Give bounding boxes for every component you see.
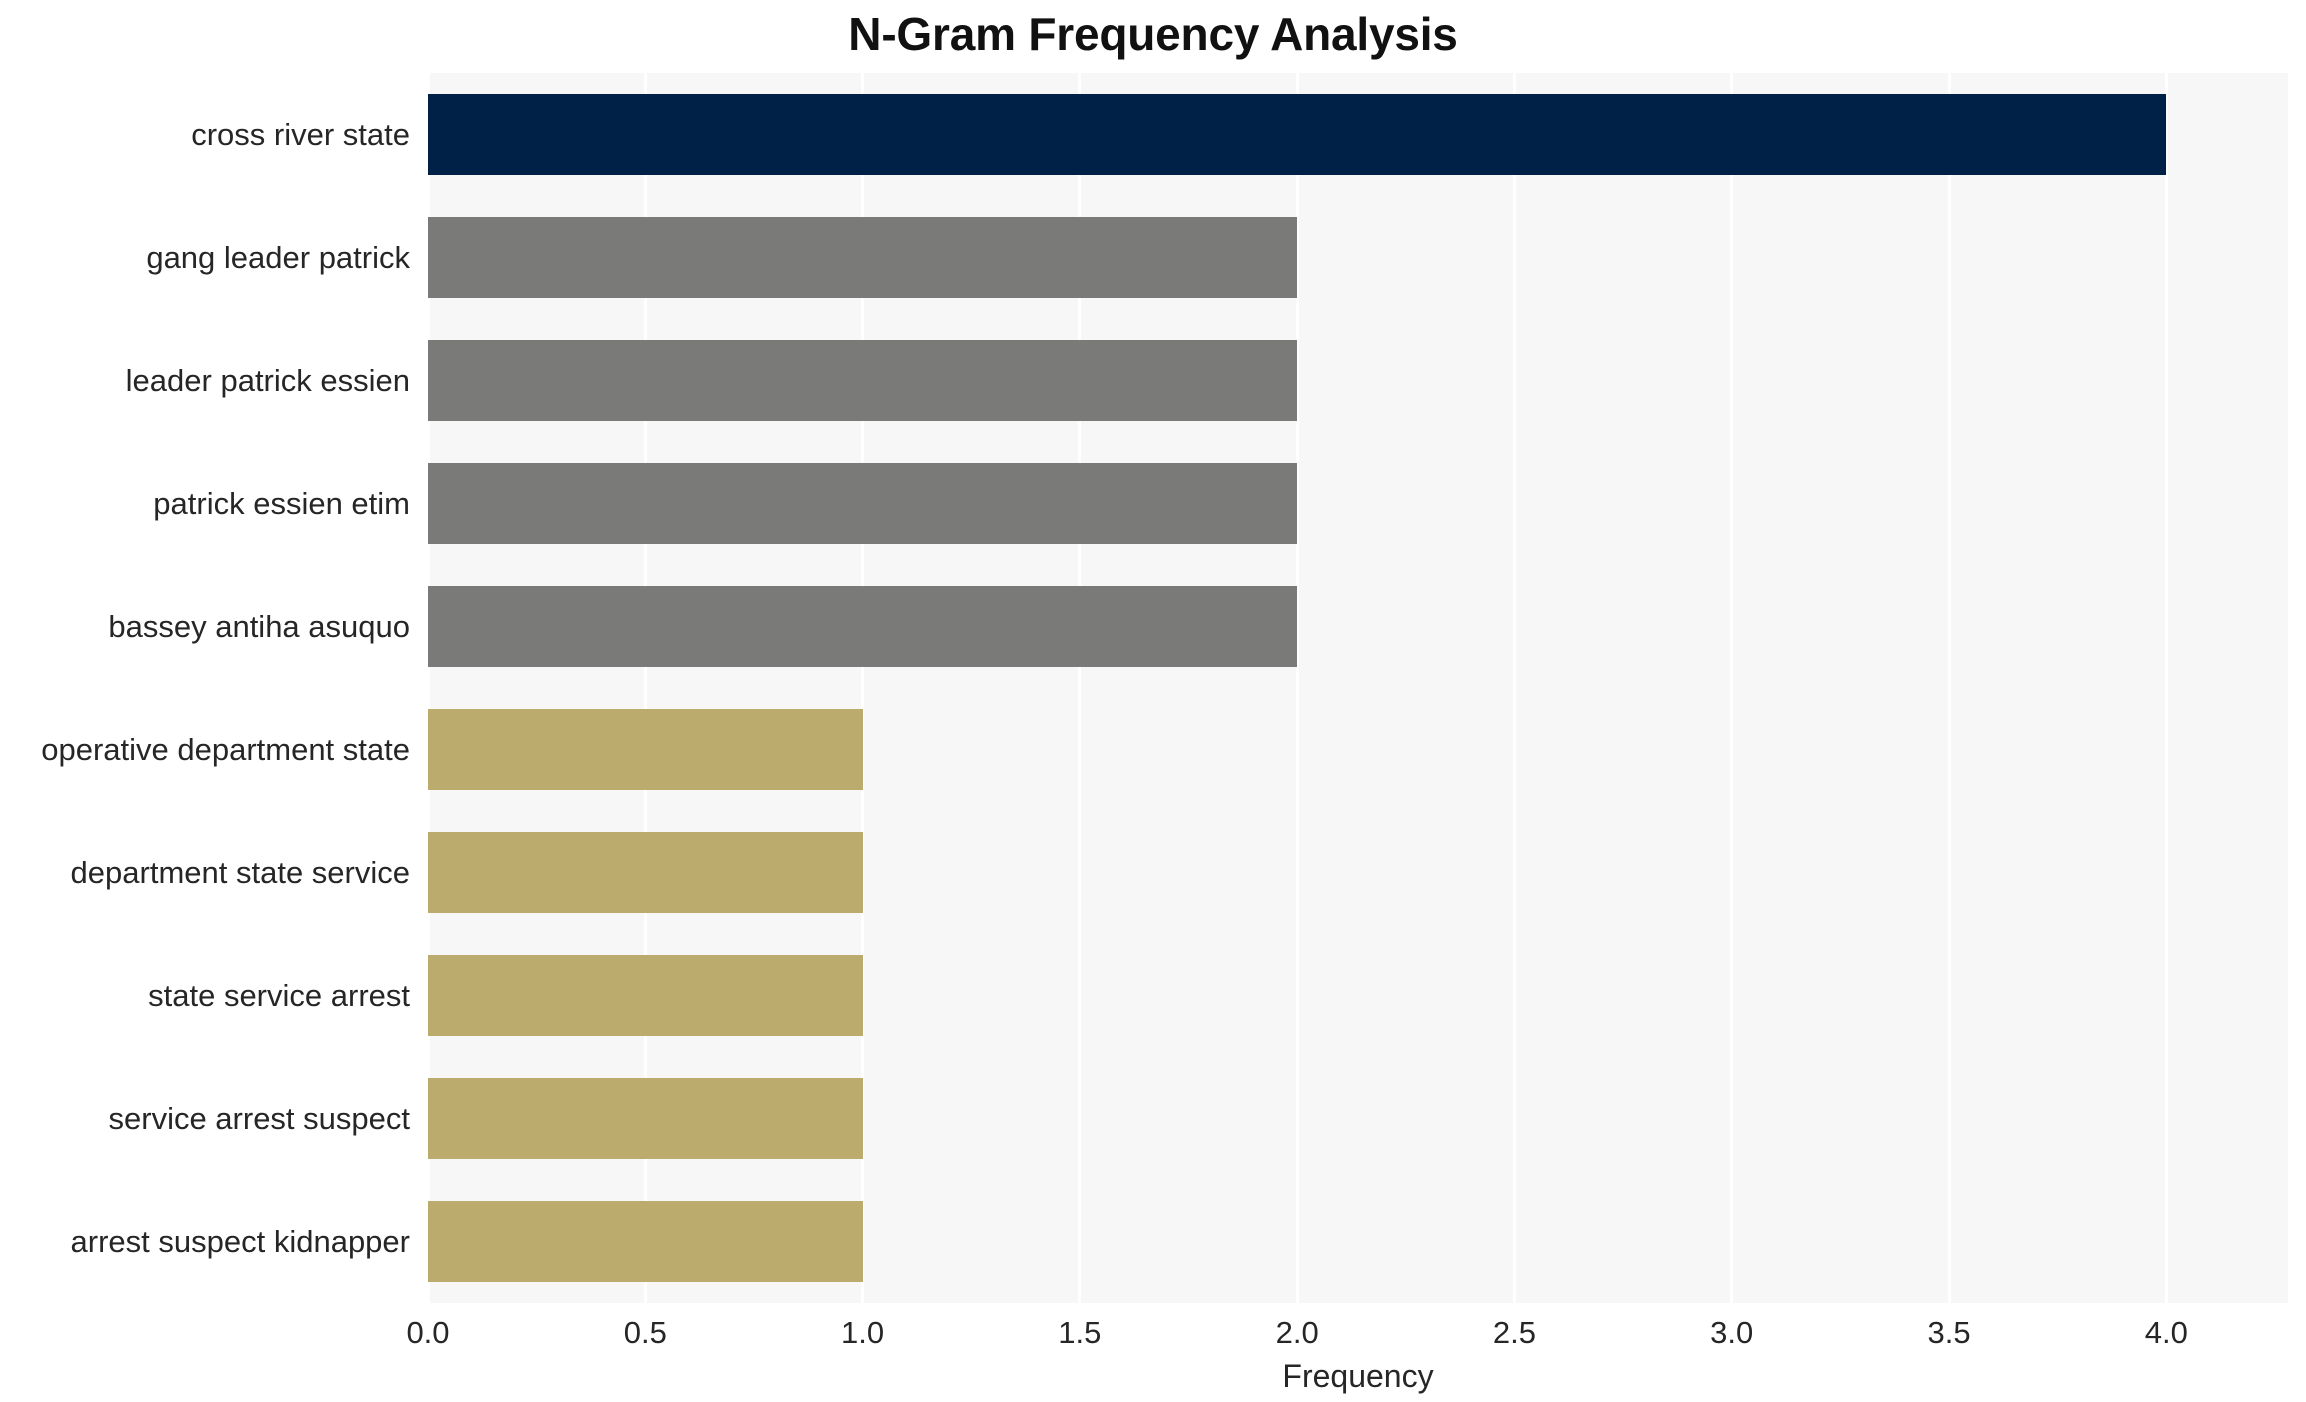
chart-title: N-Gram Frequency Analysis [0,6,2306,62]
plot-area [428,73,2288,1303]
x-axis-tick-label: 0.5 [624,1315,667,1351]
y-axis-tick-label: cross river state [0,117,410,153]
y-axis-tick-label: bassey antiha asuquo [0,609,410,645]
y-axis-tick-label: leader patrick essien [0,363,410,399]
y-axis-tick-label: department state service [0,855,410,891]
x-axis-tick-label: 4.0 [2145,1315,2188,1351]
y-axis-tick-label: arrest suspect kidnapper [0,1224,410,1260]
x-axis-tick-label: 3.5 [1927,1315,1970,1351]
bar[interactable] [428,1078,863,1160]
y-axis-tick-label: state service arrest [0,978,410,1014]
x-axis-tick-label: 1.0 [841,1315,884,1351]
bar[interactable] [428,340,1297,422]
y-axis-tick-labels: cross river stategang leader patricklead… [0,73,410,1303]
y-axis-tick-label: service arrest suspect [0,1101,410,1137]
bar[interactable] [428,1201,863,1283]
x-axis-tick-labels: 0.00.51.01.52.02.53.03.54.0 [0,1315,2306,1361]
y-axis-tick-label: operative department state [0,732,410,768]
x-axis-tick-label: 3.0 [1710,1315,1753,1351]
bar[interactable] [428,217,1297,299]
bars-group [428,73,2288,1303]
chart-figure: N-Gram Frequency Analysis cross river st… [0,0,2306,1402]
x-axis-tick-label: 0.0 [406,1315,449,1351]
x-axis-tick-label: 1.5 [1058,1315,1101,1351]
x-axis-tick-label: 2.5 [1493,1315,1536,1351]
bar[interactable] [428,709,863,791]
bar[interactable] [428,955,863,1037]
bar[interactable] [428,463,1297,545]
bar[interactable] [428,94,2166,176]
x-axis-tick-label: 2.0 [1276,1315,1319,1351]
x-axis-title: Frequency [428,1358,2288,1395]
bar[interactable] [428,832,863,914]
y-axis-tick-label: patrick essien etim [0,486,410,522]
bar[interactable] [428,586,1297,668]
y-axis-tick-label: gang leader patrick [0,240,410,276]
